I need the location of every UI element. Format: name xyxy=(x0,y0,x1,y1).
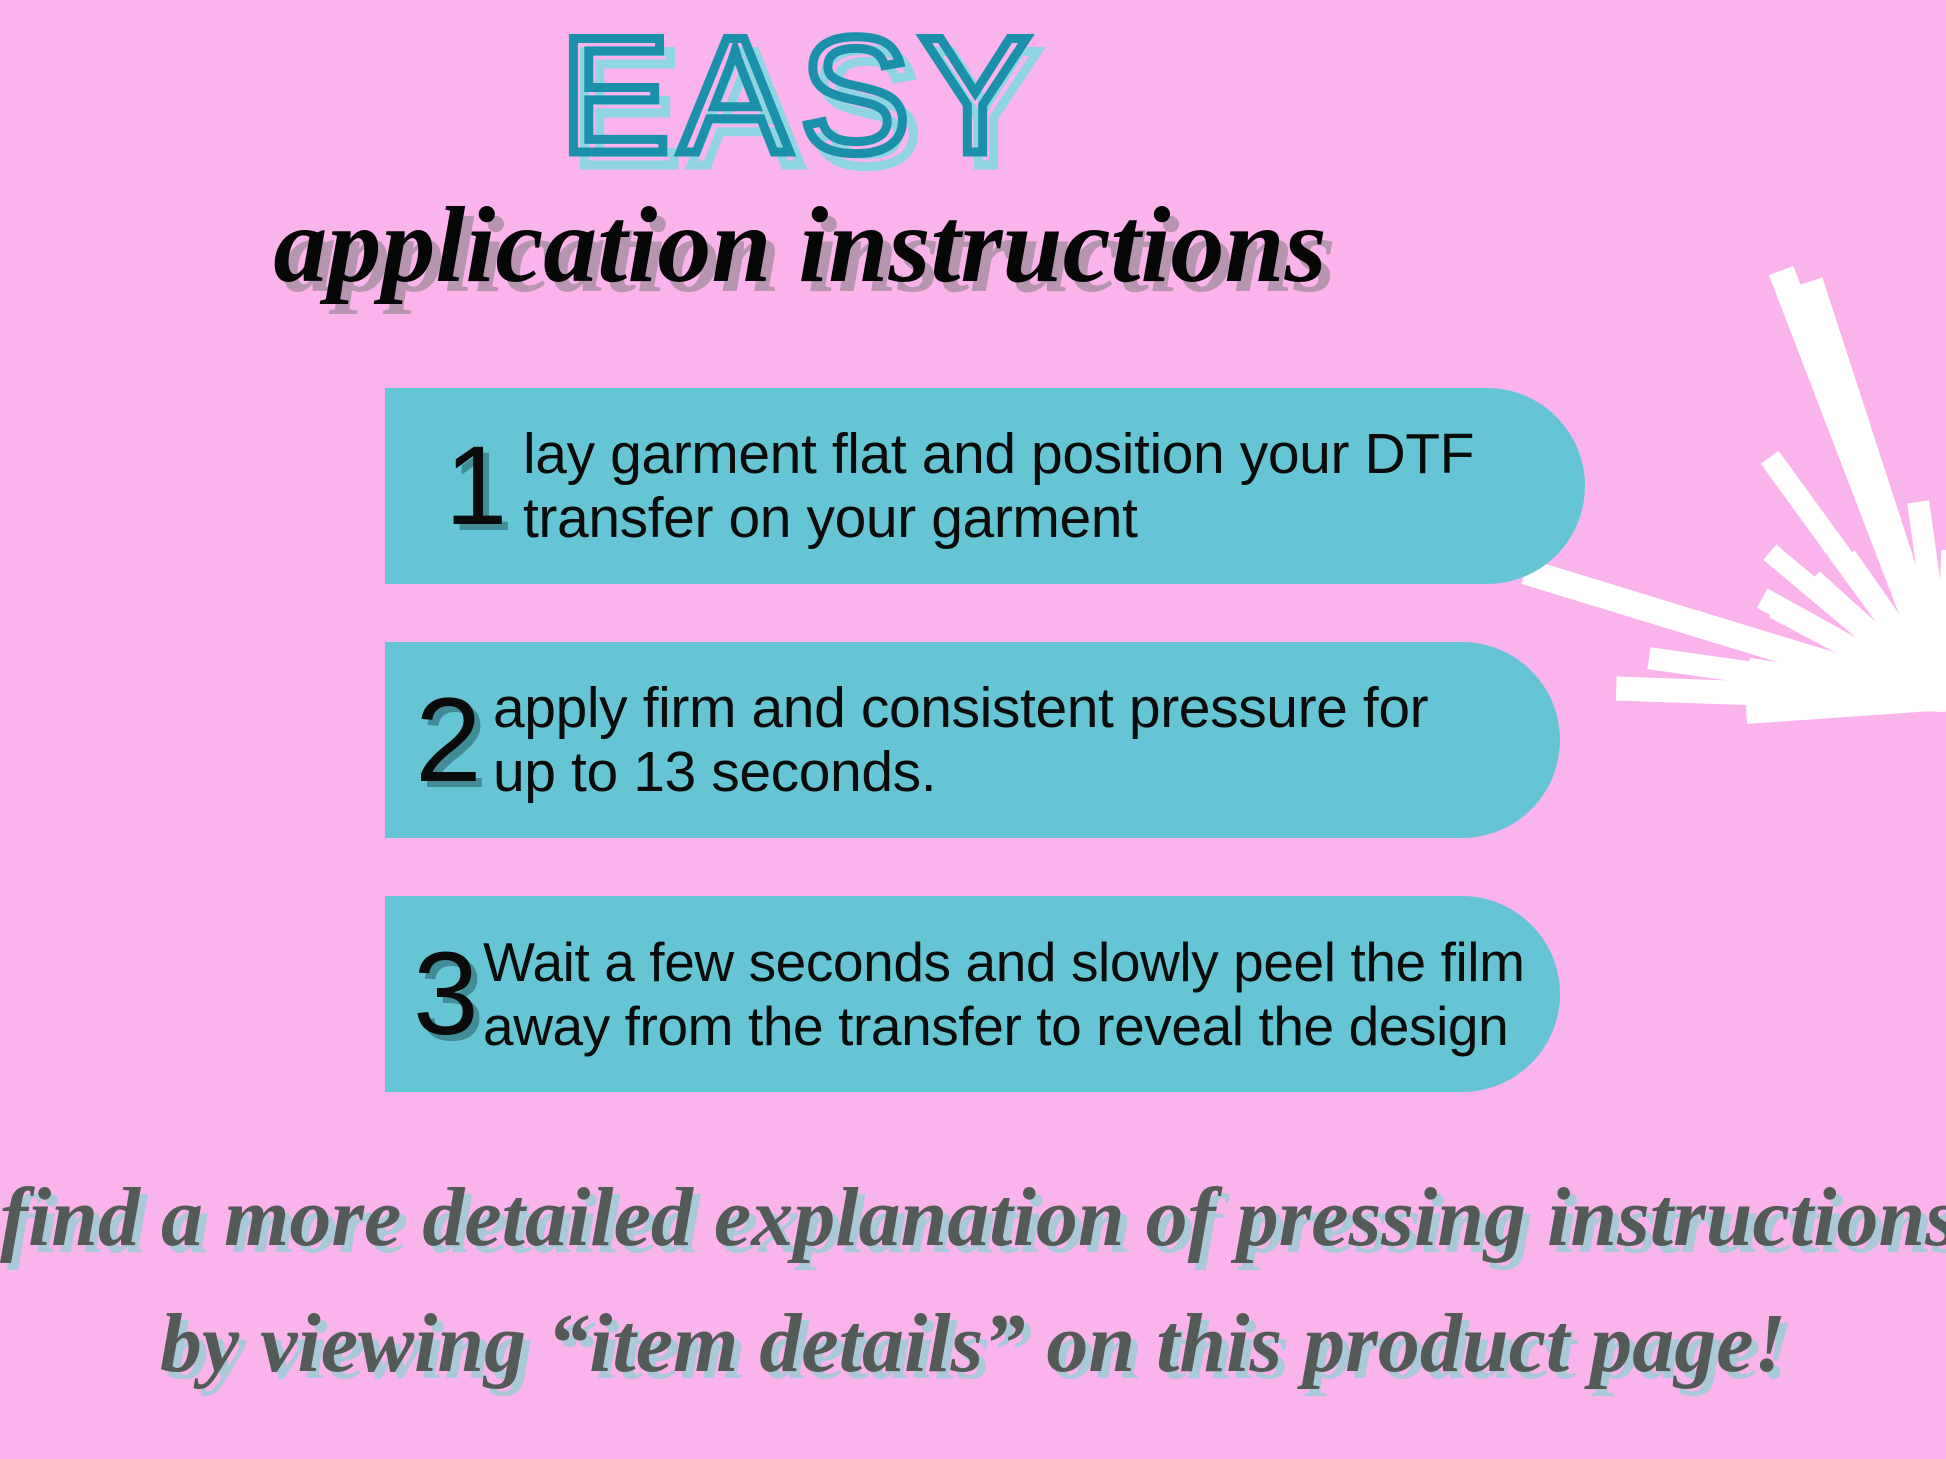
sunburst-ray xyxy=(1846,685,1946,710)
sunburst-ray xyxy=(1763,544,1946,707)
step-text-3: Wait a few seconds and slowly peel the f… xyxy=(483,930,1525,1058)
step-item-2: 2 apply firm and consistent pressure for… xyxy=(385,642,1560,838)
sunburst-ray xyxy=(1531,562,1946,712)
sunburst-ray xyxy=(1521,559,1946,713)
step-number-3: 3 xyxy=(413,938,483,1050)
step-text-2: apply firm and consistent pressure for u… xyxy=(493,676,1428,804)
title-easy-text: EASY xyxy=(0,10,1600,180)
poster-canvas: EASY EASY application instructions 1 lay… xyxy=(0,0,1946,1459)
step-number-1: 1 xyxy=(445,430,523,542)
sunburst-ray xyxy=(1936,550,1946,701)
sunburst-ray xyxy=(1647,647,1946,711)
sunburst-ray xyxy=(1746,690,1946,724)
footer-line-2: by viewing “item details” on this produc… xyxy=(0,1281,1946,1407)
sunburst-ray xyxy=(1769,266,1946,705)
sunburst-ray xyxy=(1798,278,1946,704)
sunburst-ray xyxy=(1747,658,1946,711)
sunburst-ray xyxy=(1769,600,1946,709)
steps-list: 1 lay garment flat and position your DTF… xyxy=(385,388,1585,1092)
step-item-3: 3 Wait a few seconds and slowly peel the… xyxy=(385,896,1560,1092)
footer-line-1: find a more detailed explanation of pres… xyxy=(0,1155,1946,1281)
sunburst-ray xyxy=(1757,589,1946,710)
sunburst-ray xyxy=(1837,550,1946,706)
subtitle-application-instructions: application instructions xyxy=(0,190,1600,302)
footer-note: find a more detailed explanation of pres… xyxy=(0,1155,1946,1407)
step-text-1: lay garment flat and position your DTF t… xyxy=(523,422,1474,550)
title-easy: EASY EASY xyxy=(0,10,1600,180)
sunburst-ray xyxy=(1616,676,1946,712)
sunburst-ray xyxy=(1761,451,1946,707)
sunburst-ray xyxy=(1907,500,1946,701)
step-number-2: 2 xyxy=(415,684,493,796)
heading-block: EASY EASY application instructions xyxy=(0,0,1600,302)
step-item-1: 1 lay garment flat and position your DTF… xyxy=(385,388,1585,584)
sunburst-ray xyxy=(1805,571,1946,708)
